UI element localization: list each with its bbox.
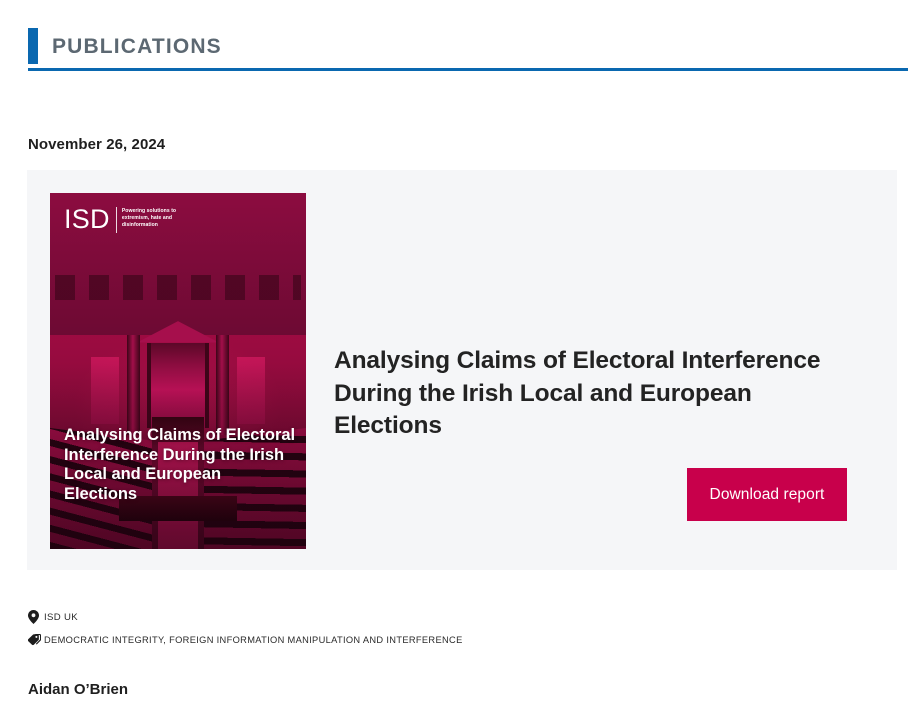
meta-tags-text[interactable]: DEMOCRATIC INTEGRITY, FOREIGN INFORMATIO… (44, 635, 463, 645)
page-title-group: PUBLICATIONS (28, 28, 222, 64)
header-divider (28, 68, 908, 71)
header-accent-bar (28, 28, 38, 64)
meta-row-location: ISD UK (28, 608, 888, 626)
meta-row-tags: DEMOCRATIC INTEGRITY, FOREIGN INFORMATIO… (28, 631, 888, 649)
publication-date: November 26, 2024 (28, 136, 165, 153)
author-name[interactable]: Aidan O’Brien (28, 681, 128, 698)
map-pin-icon (28, 610, 44, 624)
publication-title[interactable]: Analysing Claims of Electoral Interferen… (334, 345, 859, 443)
tag-icon (28, 634, 44, 646)
cover-headline: Analysing Claims of Electoral Interferen… (64, 426, 296, 505)
isd-logo-divider (116, 207, 117, 233)
isd-logo-mark: ISD (64, 206, 110, 233)
download-report-button[interactable]: Download report (687, 468, 847, 521)
publication-card: ISD Powering solutions to extremism, hat… (27, 170, 897, 570)
page-title: PUBLICATIONS (52, 36, 222, 57)
isd-logo: ISD Powering solutions to extremism, hat… (64, 206, 192, 233)
publication-meta: ISD UK DEMOCRATIC INTEGRITY, FOREIGN INF… (28, 608, 888, 654)
meta-location-text[interactable]: ISD UK (44, 612, 78, 623)
publication-cover-image[interactable]: ISD Powering solutions to extremism, hat… (50, 193, 306, 549)
isd-logo-tagline: Powering solutions to extremism, hate an… (122, 208, 192, 229)
page-header: PUBLICATIONS (0, 0, 908, 72)
